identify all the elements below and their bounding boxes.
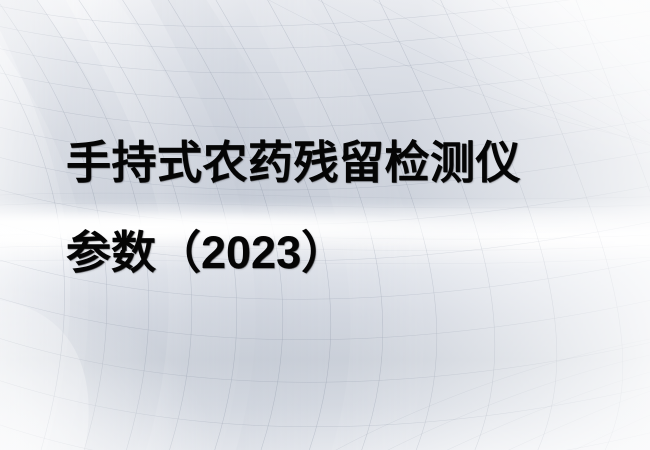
slide-title: 手持式农药残留检测仪 参数（2023）: [66, 118, 626, 298]
title-line-primary: 手持式农药残留检测仪: [66, 118, 626, 208]
title-line-secondary: 参数（2023）: [66, 208, 626, 298]
title-slide: 手持式农药残留检测仪 参数（2023）: [0, 0, 650, 450]
